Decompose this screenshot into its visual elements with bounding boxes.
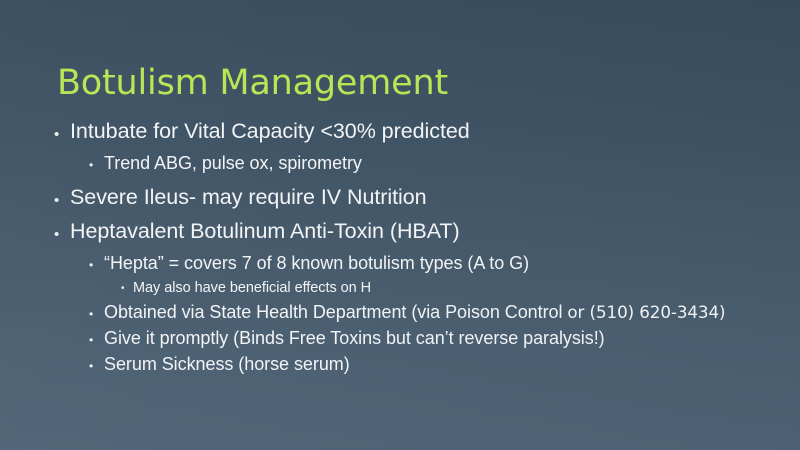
- bullet-dot-icon: •: [121, 284, 125, 294]
- bullet-level3-effects-on-h: • May also have beneficial effects on H: [53, 278, 753, 298]
- bullet-dot-icon: •: [54, 193, 59, 208]
- bullet-dot-icon: •: [89, 159, 93, 171]
- bullet-text: Give it promptly (Binds Free Toxins but …: [104, 327, 753, 350]
- bullet-text: “Hepta” = covers 7 of 8 known botulism t…: [104, 252, 753, 275]
- poison-control-phone-number: or (510) 620-3434): [567, 302, 725, 322]
- bullet-text: Severe Ileus- may require IV Nutrition: [70, 184, 753, 211]
- bullet-level1-severe-ileus: • Severe Ileus- may require IV Nutrition: [53, 184, 753, 211]
- bullet-text: Obtained via State Health Department (vi…: [104, 301, 753, 324]
- bullet-level2-hepta-definition: • “Hepta” = covers 7 of 8 known botulism…: [53, 252, 753, 275]
- bullet-text: Serum Sickness (horse serum): [104, 353, 753, 376]
- bullet-dot-icon: •: [89, 308, 93, 320]
- bullet-dot-icon: •: [89, 360, 93, 372]
- presentation-slide: Botulism Management • Intubate for Vital…: [0, 0, 800, 450]
- slide-body-content: • Intubate for Vital Capacity <30% predi…: [53, 118, 753, 379]
- bullet-dot-icon: •: [89, 259, 93, 271]
- bullet-level1-intubate: • Intubate for Vital Capacity <30% predi…: [53, 118, 753, 145]
- bullet-dot-icon: •: [89, 334, 93, 346]
- slide-title: Botulism Management: [57, 64, 757, 103]
- bullet-level1-hbat: • Heptavalent Botulinum Anti-Toxin (HBAT…: [53, 218, 753, 245]
- bullet-text: May also have beneficial effects on H: [133, 278, 753, 298]
- bullet-text-primary: Obtained via State Health Department (vi…: [104, 302, 567, 322]
- bullet-text: Intubate for Vital Capacity <30% predict…: [70, 118, 753, 145]
- bullet-text: Heptavalent Botulinum Anti-Toxin (HBAT): [70, 218, 753, 245]
- bullet-level2-give-promptly: • Give it promptly (Binds Free Toxins bu…: [53, 327, 753, 350]
- bullet-level2-serum-sickness: • Serum Sickness (horse serum): [53, 353, 753, 376]
- bullet-dot-icon: •: [54, 227, 59, 242]
- bullet-level2-trend-abg: • Trend ABG, pulse ox, spirometry: [53, 152, 753, 175]
- bullet-dot-icon: •: [54, 127, 59, 142]
- bullet-text: Trend ABG, pulse ox, spirometry: [104, 152, 753, 175]
- bullet-level2-obtained-via: • Obtained via State Health Department (…: [53, 301, 753, 324]
